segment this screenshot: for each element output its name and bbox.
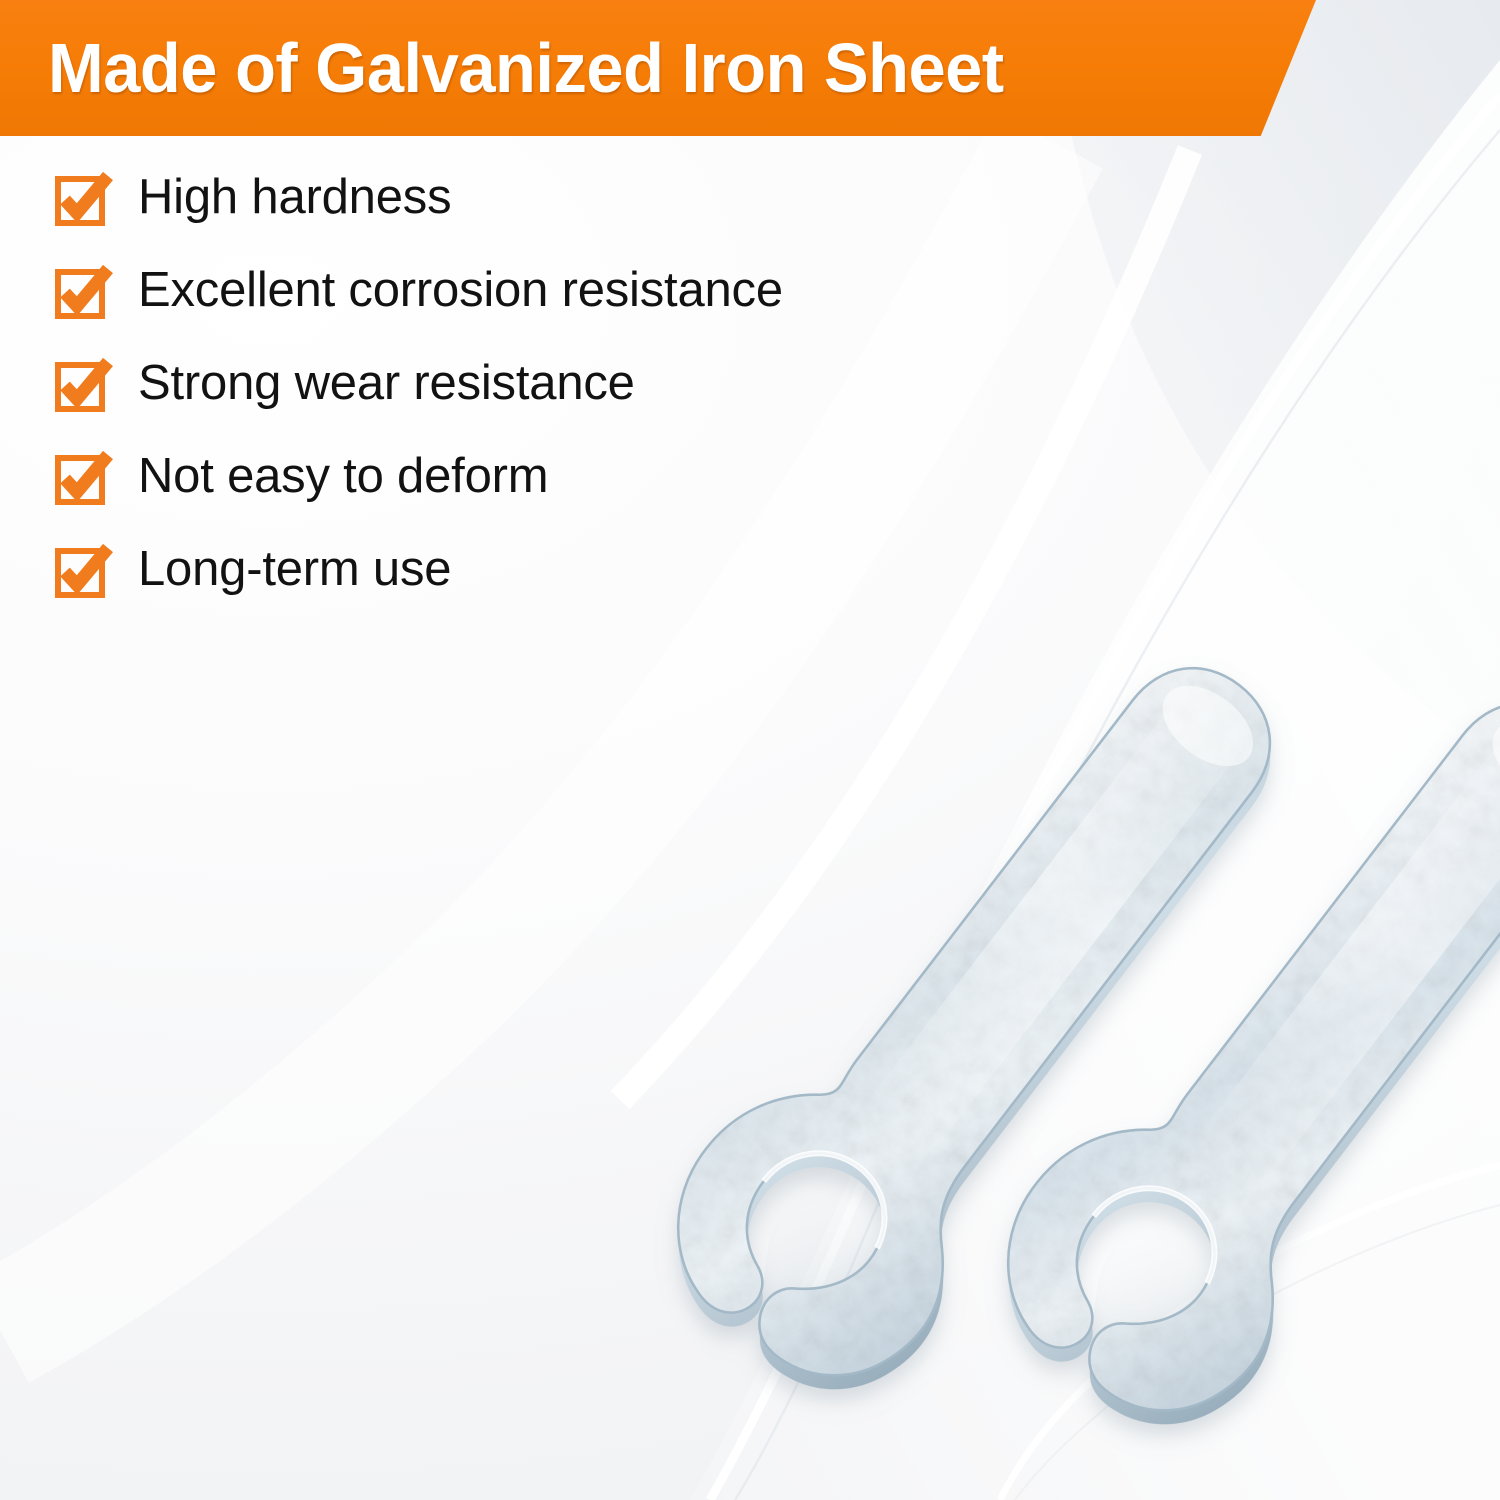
product-infographic: Made of Galvanized Iron Sheet High hardn… [0,0,1500,1500]
product-image [0,0,1500,1500]
